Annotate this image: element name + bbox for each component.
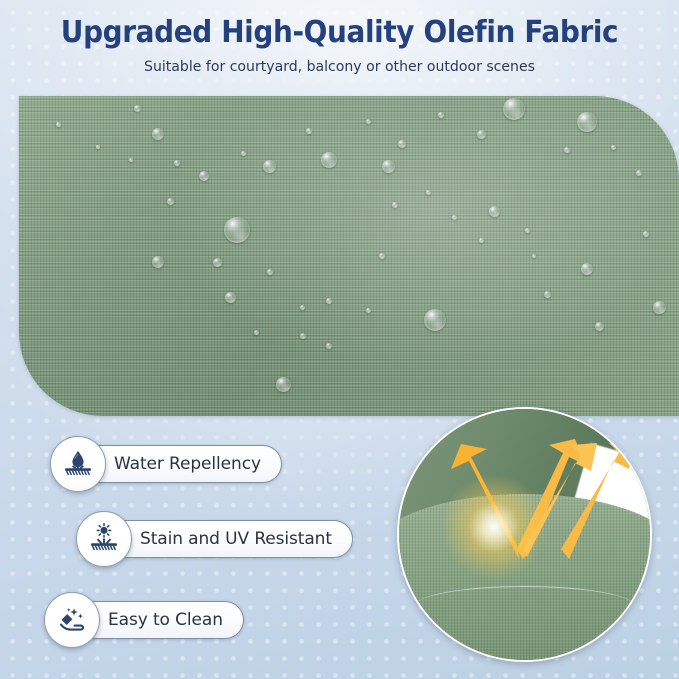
water-droplet-repel-icon — [50, 436, 106, 492]
water-droplet — [199, 171, 209, 181]
water-droplet — [326, 343, 332, 349]
water-droplet — [525, 228, 530, 233]
water-droplet — [379, 253, 385, 259]
feature-label: Water Repellency — [114, 454, 261, 474]
water-droplet — [382, 160, 395, 173]
water-droplet — [426, 190, 431, 195]
water-droplet — [392, 202, 398, 208]
water-droplet — [326, 298, 332, 304]
water-droplet — [398, 140, 406, 148]
water-droplet — [544, 291, 551, 298]
water-droplet — [479, 238, 484, 243]
feature-label: Easy to Clean — [108, 610, 223, 630]
feature-stain-uv-resistant[interactable]: Stain and UV Resistant — [76, 511, 353, 567]
sun-uv-resist-icon — [76, 511, 132, 567]
uv-reflection-inset — [397, 407, 652, 662]
water-droplet — [581, 263, 593, 275]
water-droplet — [489, 206, 500, 217]
water-droplet — [152, 128, 164, 140]
water-droplet — [241, 151, 246, 156]
feature-label-pill[interactable]: Stain and UV Resistant — [98, 520, 353, 558]
water-droplet — [653, 301, 666, 314]
water-droplet — [477, 130, 486, 139]
water-droplet — [152, 256, 164, 268]
water-droplet — [224, 217, 250, 243]
hand-sparkle-clean-icon — [44, 592, 100, 648]
water-droplet — [267, 269, 273, 275]
water-droplet — [300, 333, 306, 339]
feature-label: Stain and UV Resistant — [140, 529, 332, 549]
water-droplet — [577, 112, 597, 132]
water-droplet — [643, 231, 649, 237]
water-droplet — [225, 292, 236, 303]
water-droplet — [532, 254, 536, 258]
uv-arrow-right-icon — [399, 409, 652, 662]
page-title: Upgraded High-Quality Olefin Fabric — [24, 16, 655, 50]
water-droplet — [213, 258, 222, 267]
water-droplet — [276, 377, 291, 392]
water-droplet — [503, 98, 525, 120]
page-subtitle: Suitable for courtyard, balcony or other… — [10, 59, 669, 75]
feature-water-repellency[interactable]: Water Repellency — [50, 436, 282, 492]
water-droplet — [424, 309, 446, 331]
fabric-swatch-photo — [19, 96, 679, 416]
water-droplet — [611, 145, 616, 150]
product-feature-poster: Upgraded High-Quality Olefin Fabric Suit… — [0, 0, 679, 679]
feature-easy-to-clean[interactable]: Easy to Clean — [44, 592, 244, 648]
header: Upgraded High-Quality Olefin Fabric Suit… — [0, 0, 679, 75]
fabric-lighting-overlay — [19, 96, 679, 416]
